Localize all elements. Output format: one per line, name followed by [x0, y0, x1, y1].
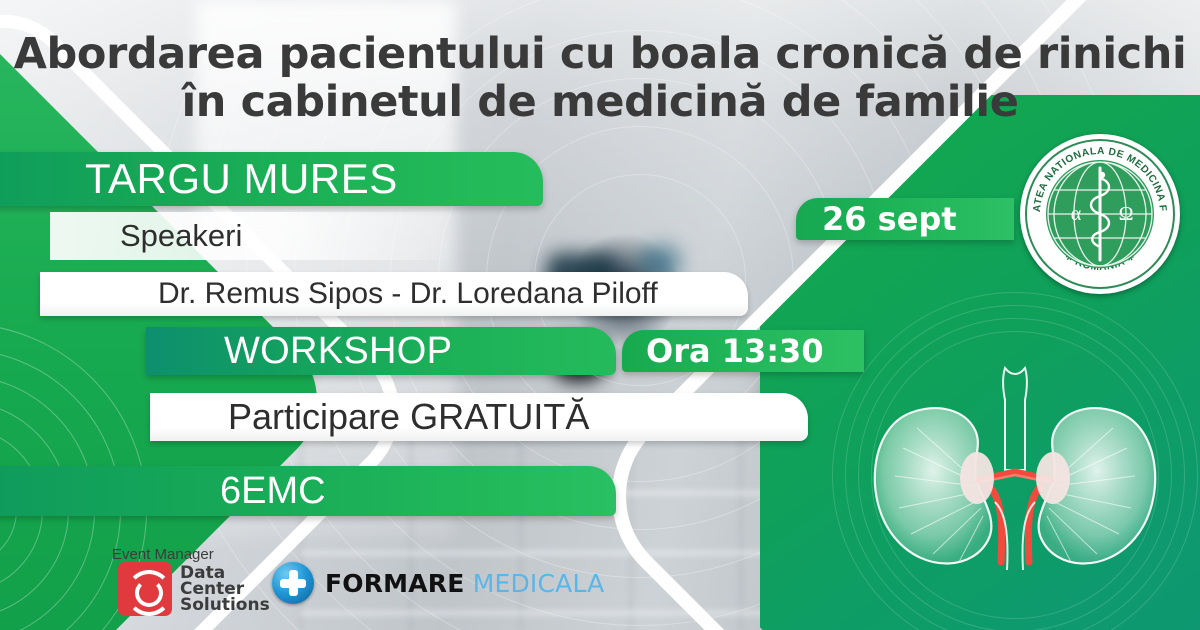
- event-type-banner: WORKSHOP: [146, 327, 616, 375]
- dcs-mark-icon: [118, 562, 172, 616]
- dcs-line-3: Solutions: [180, 597, 270, 613]
- participation-bar: Participare GRATUITĂ: [150, 393, 808, 441]
- omega-symbol: Ω: [1119, 203, 1134, 225]
- kidney-ring-decoration: [835, 310, 1195, 630]
- speakers-names-bar: Dr. Remus Sipos - Dr. Loredana Piloff: [40, 272, 748, 316]
- event-manager-label: Event Manager: [112, 546, 214, 563]
- formare-light-text: MEDICALA: [473, 569, 605, 598]
- dcs-ring-inner: [135, 579, 163, 607]
- medical-cross-icon: [272, 562, 314, 604]
- formare-bold-text: FORMARE: [325, 569, 465, 598]
- poster-canvas: Abordarea pacientului cu boala cronică d…: [0, 0, 1200, 630]
- credits-banner: 6EMC: [0, 466, 616, 516]
- title-line-1: Abordarea pacientului cu boala cronică d…: [14, 29, 1187, 79]
- kidneys-illustration: [855, 330, 1175, 620]
- data-center-solutions-logo: Data Center Solutions: [118, 562, 270, 616]
- date-badge: 26 sept: [796, 198, 1014, 240]
- formare-medicala-logo: FORMARE MEDICALA: [272, 562, 604, 604]
- formare-wordmark: FORMARE MEDICALA: [325, 569, 604, 598]
- poster-title: Abordarea pacientului cu boala cronică d…: [0, 30, 1200, 126]
- snmf-logo: SOCIETATEA NATIONALA DE MEDICINA FAMILIE…: [1020, 134, 1180, 294]
- speakers-label: Speakeri: [50, 212, 460, 260]
- title-line-2: în cabinetul de medicină de familie: [0, 78, 1200, 126]
- alpha-symbol: α: [1071, 203, 1082, 225]
- dcs-wordmark: Data Center Solutions: [180, 565, 270, 614]
- cross-horizontal: [280, 579, 306, 588]
- snmf-emblem: α Ω: [1046, 160, 1154, 268]
- time-badge: Ora 13:30: [622, 330, 864, 372]
- city-banner: TARGU MURES: [0, 152, 543, 206]
